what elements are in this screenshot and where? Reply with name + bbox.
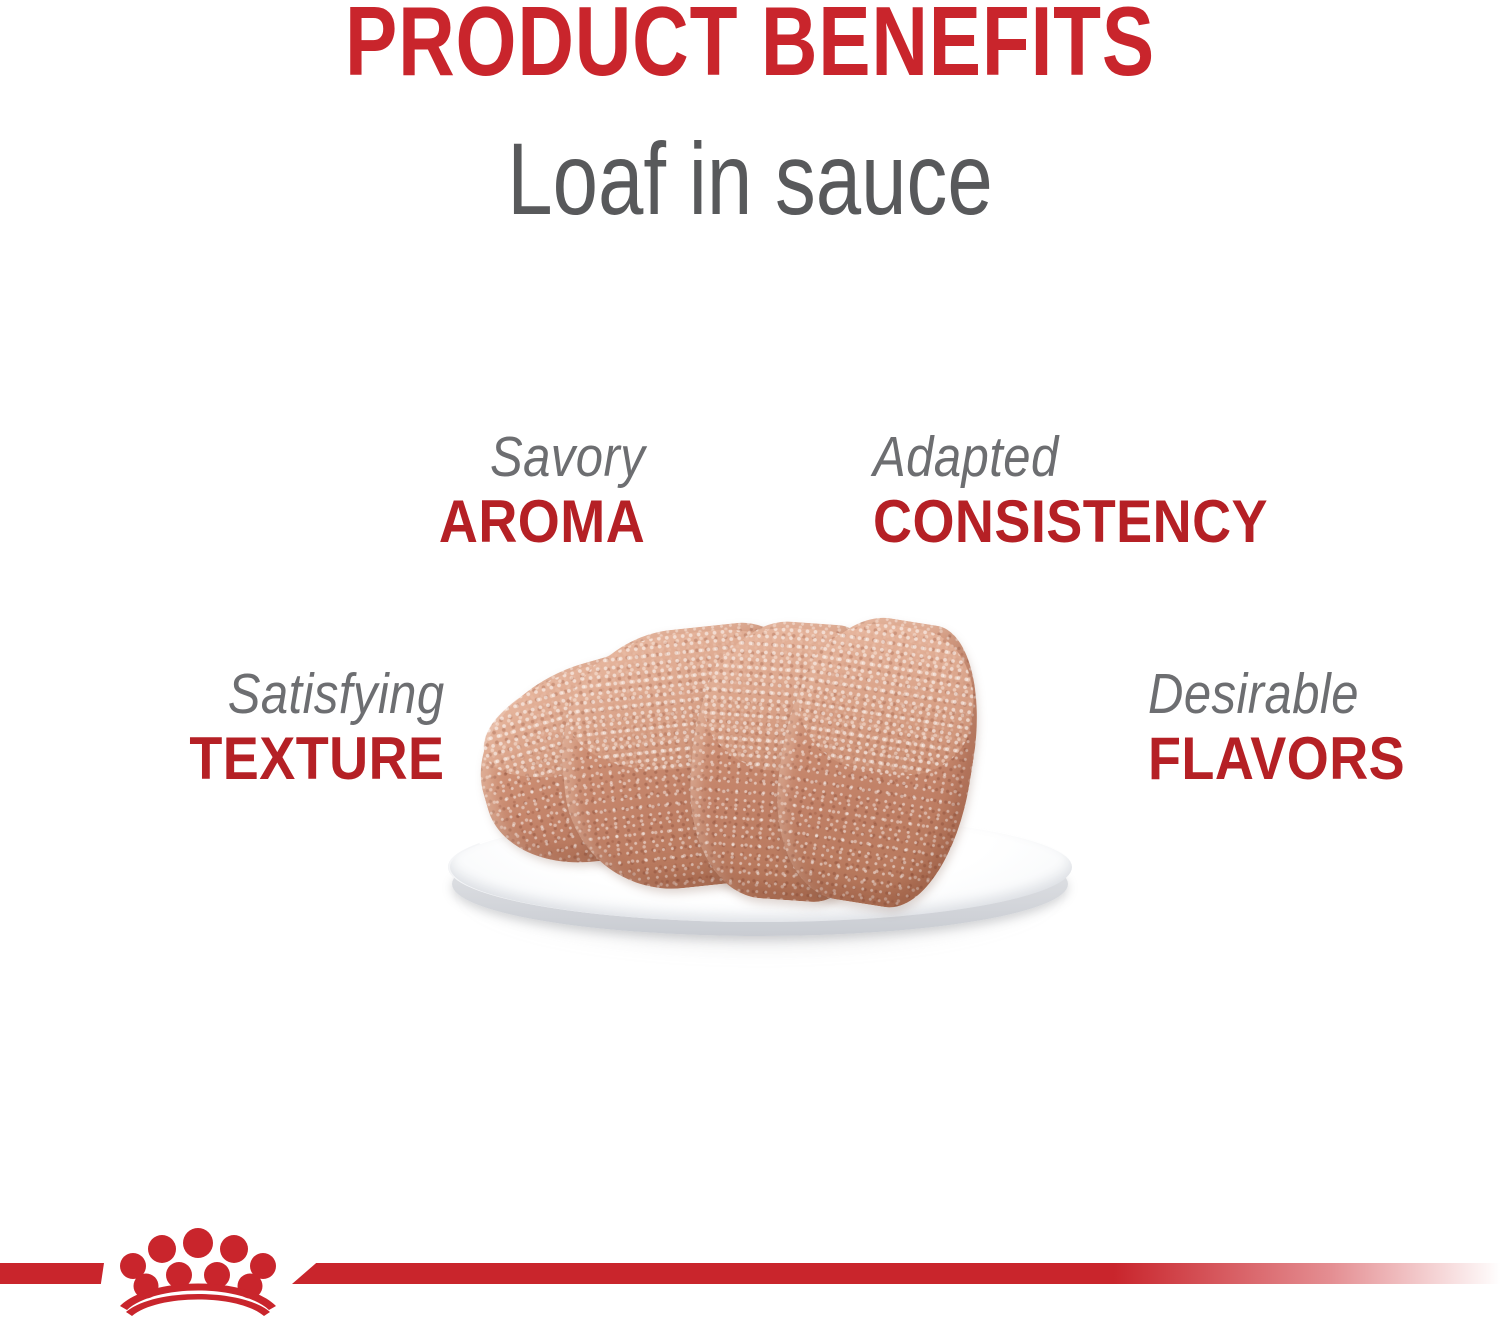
page-subtitle: Loaf in sauce [150,128,1350,230]
benefit-texture: Satisfying TEXTURE [161,665,445,792]
footer-rule-right [292,1263,1500,1284]
benefit-consistency-lead: Adapted [873,428,1250,488]
benefit-flavors: Desirable FLAVORS [1148,665,1434,792]
benefit-consistency: Adapted CONSISTENCY [873,428,1312,555]
benefit-texture-key: TEXTURE [190,725,445,792]
product-benefits-panel: PRODUCT BENEFITS Loaf in sauce Savory AR… [0,0,1500,1320]
product-image [430,600,1090,980]
benefit-aroma: Savory AROMA [416,428,645,555]
benefit-texture-lead: Satisfying [201,665,445,725]
benefit-consistency-key: CONSISTENCY [873,488,1268,555]
benefit-flavors-key: FLAVORS [1148,725,1405,792]
page-title: PRODUCT BENEFITS [150,0,1350,90]
benefit-flavors-lead: Desirable [1148,665,1394,725]
footer-rule-left [0,1263,104,1284]
benefit-aroma-lead: Savory [448,428,645,488]
royal-canin-crown-logo [108,1228,288,1320]
benefit-aroma-key: AROMA [439,488,645,555]
